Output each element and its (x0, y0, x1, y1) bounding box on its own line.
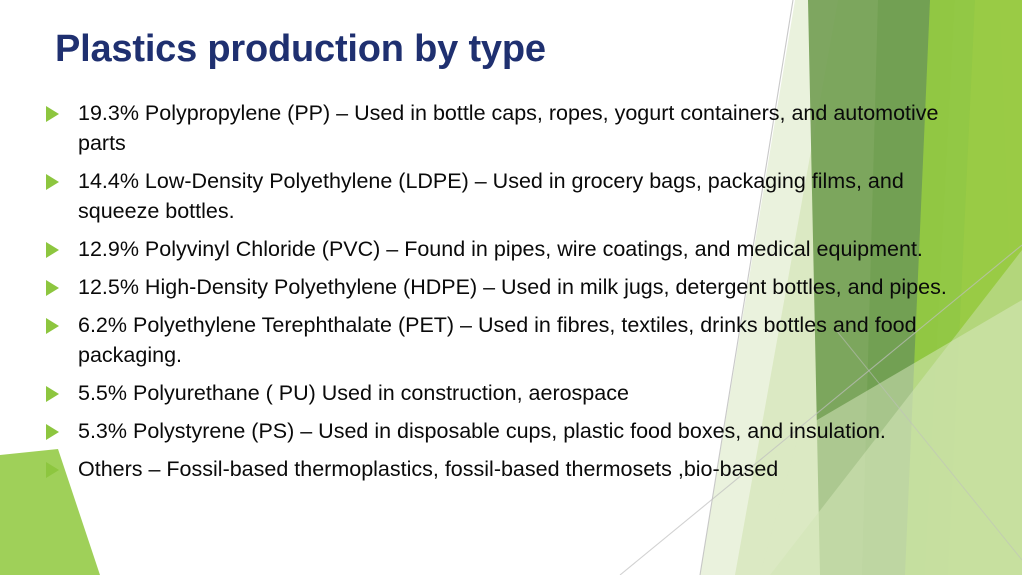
list-item: 6.2% Polyethylene Terephthalate (PET) – … (40, 310, 990, 370)
triangle-right-icon (46, 424, 59, 440)
triangle-right-icon (46, 386, 59, 402)
list-item-label: 12.5% High-Density Polyethylene (HDPE) –… (78, 272, 990, 302)
list-item: Others – Fossil-based thermoplastics, fo… (40, 454, 990, 484)
list-item-label: 5.5% Polyurethane ( PU) Used in construc… (78, 378, 990, 408)
list-item-label: 6.2% Polyethylene Terephthalate (PET) – … (78, 310, 990, 370)
list-item: 5.5% Polyurethane ( PU) Used in construc… (40, 378, 990, 408)
page-title: Plastics production by type (55, 28, 546, 71)
triangle-right-icon (46, 318, 59, 334)
triangle-right-icon (46, 462, 59, 478)
slide-content: Plastics production by type 19.3% Polypr… (0, 0, 1022, 575)
bullet-list: 19.3% Polypropylene (PP) – Used in bottl… (40, 98, 990, 492)
list-item: 12.5% High-Density Polyethylene (HDPE) –… (40, 272, 990, 302)
list-item-label: 12.9% Polyvinyl Chloride (PVC) – Found i… (78, 234, 990, 264)
list-item-label: 19.3% Polypropylene (PP) – Used in bottl… (78, 98, 990, 158)
list-item: 5.3% Polystyrene (PS) – Used in disposab… (40, 416, 990, 446)
list-item-label: 14.4% Low-Density Polyethylene (LDPE) – … (78, 166, 990, 226)
triangle-right-icon (46, 280, 59, 296)
list-item: 19.3% Polypropylene (PP) – Used in bottl… (40, 98, 990, 158)
list-item: 14.4% Low-Density Polyethylene (LDPE) – … (40, 166, 990, 226)
presentation-slide: Plastics production by type 19.3% Polypr… (0, 0, 1022, 575)
triangle-right-icon (46, 242, 59, 258)
triangle-right-icon (46, 106, 59, 122)
list-item-label: 5.3% Polystyrene (PS) – Used in disposab… (78, 416, 990, 446)
list-item: 12.9% Polyvinyl Chloride (PVC) – Found i… (40, 234, 990, 264)
triangle-right-icon (46, 174, 59, 190)
list-item-label: Others – Fossil-based thermoplastics, fo… (78, 454, 990, 484)
